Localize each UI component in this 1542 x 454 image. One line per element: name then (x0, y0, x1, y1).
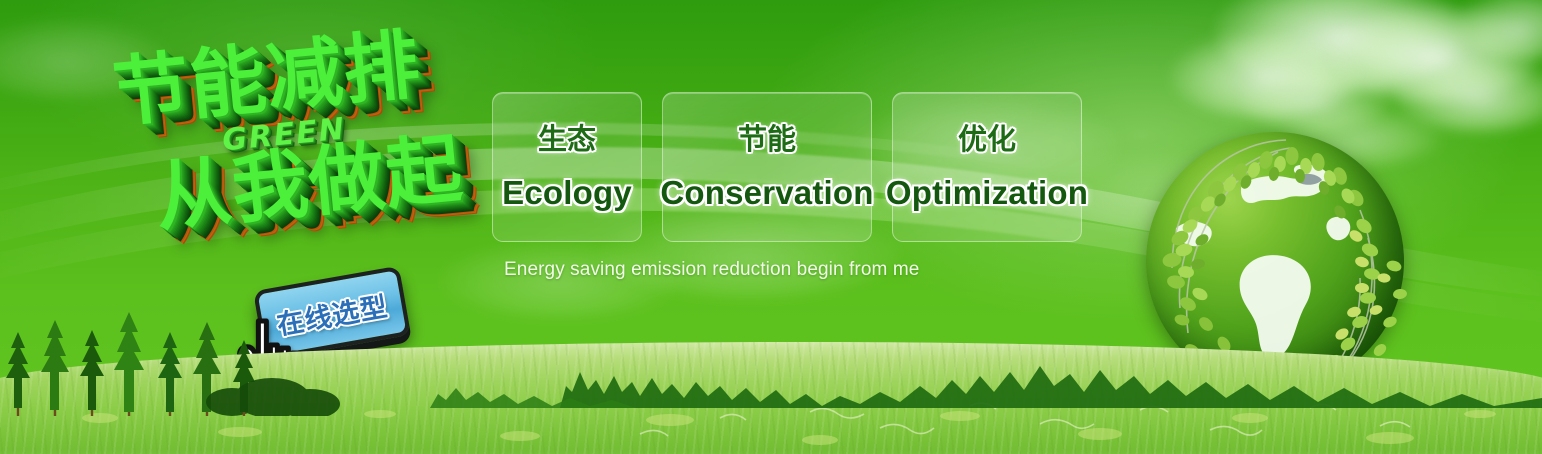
headline-top-line: 节能减排 (110, 26, 424, 131)
headline-bottom-line: 从我做起 (152, 131, 466, 236)
grass-field-icon (0, 342, 1542, 454)
eco-promo-banner: 节能减排 GREEN 从我做起 在线选型 生态 Ecology 节能 Conse… (0, 0, 1542, 454)
feature-card-en-label: Conservation (660, 176, 873, 209)
feature-card-optimization[interactable]: 优化 Optimization (892, 92, 1082, 242)
cloud-icon (1455, 0, 1542, 60)
feature-card-en-label: Ecology (502, 176, 632, 209)
banner-subtitle: Energy saving emission reduction begin f… (504, 259, 919, 281)
feature-card-ecology[interactable]: 生态 Ecology (492, 92, 642, 242)
headline-3d-artwork: 节能减排 GREEN 从我做起 (90, 19, 510, 286)
feature-card-cn-label: 优化 (958, 125, 1016, 154)
cloud-icon (1215, 0, 1465, 92)
feature-card-conservation[interactable]: 节能 Conservation (662, 92, 872, 242)
grass-speckle-detail (0, 388, 1522, 454)
feature-cards: 生态 Ecology 节能 Conservation 优化 Optimizati… (492, 92, 1082, 242)
cloud-icon (1330, 4, 1540, 102)
online-selection-button-wrapper[interactable]: 在线选型 (253, 266, 411, 361)
feature-card-cn-label: 生态 (538, 125, 596, 154)
feature-card-cn-label: 节能 (738, 125, 796, 154)
feature-card-en-label: Optimization (886, 176, 1088, 209)
cloud-icon (1170, 32, 1360, 118)
